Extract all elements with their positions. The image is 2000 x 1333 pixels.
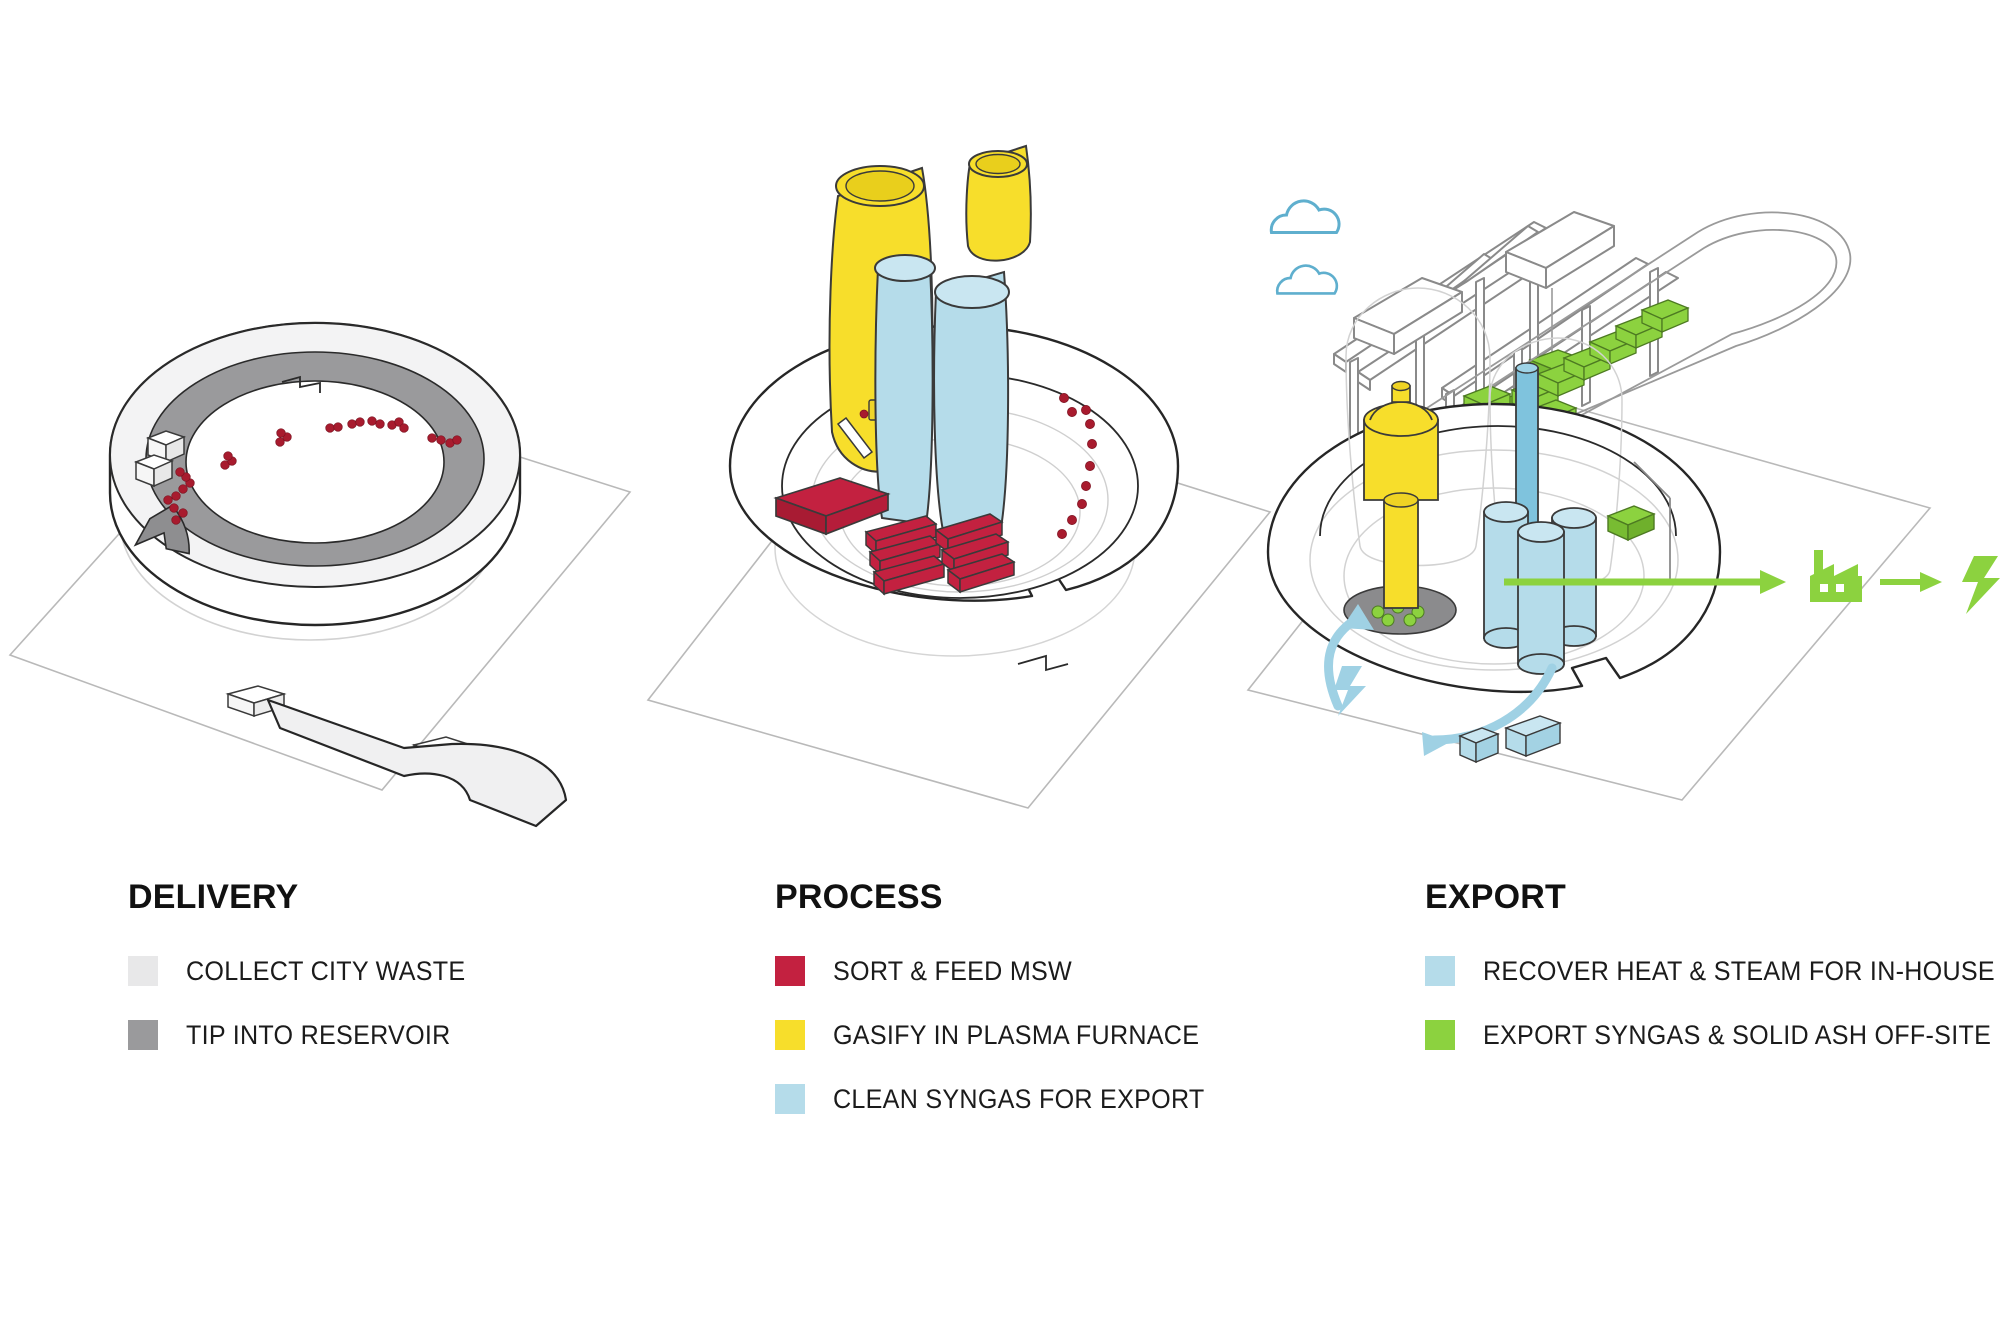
cloud-icon-upper	[1271, 201, 1339, 233]
swatch-sort-feed-msw	[775, 956, 805, 986]
legend-item: CLEAN SYNGAS FOR EXPORT	[775, 1084, 1335, 1114]
legend-label: TIP INTO RESERVOIR	[186, 1022, 451, 1049]
energy-recovery-units	[1460, 716, 1560, 762]
legend-export: EXPORT RECOVER HEAT & STEAM FOR IN-HOUSE…	[1425, 880, 2000, 1084]
legend-item: SORT & FEED MSW	[775, 956, 1335, 986]
panel-export	[1230, 0, 2000, 870]
swatch-tip-into-reservoir	[128, 1020, 158, 1050]
swatch-recover-heat-steam	[1425, 956, 1455, 986]
legend-item: RECOVER HEAT & STEAM FOR IN-HOUSE ENERGY	[1425, 956, 2000, 986]
plasma-furnace-small	[966, 146, 1030, 261]
hall-notch	[1018, 656, 1068, 670]
power-export-arrow	[1880, 572, 1942, 592]
legend-label: CLEAN SYNGAS FOR EXPORT	[833, 1086, 1205, 1113]
legend-label: GASIFY IN PLASMA FURNACE	[833, 1022, 1199, 1049]
legend-title-delivery: DELIVERY	[128, 880, 648, 914]
legend-item: TIP INTO RESERVOIR	[128, 1020, 648, 1050]
lightning-bolt-icon	[1962, 556, 2000, 614]
legend-title-process: PROCESS	[775, 880, 1335, 914]
factory-icon	[1810, 550, 1862, 602]
legend-item: GASIFY IN PLASMA FURNACE	[775, 1020, 1335, 1050]
panel-process	[620, 0, 1280, 870]
legend-process: PROCESS SORT & FEED MSW GASIFY IN PLASMA…	[775, 880, 1335, 1148]
legend-label: RECOVER HEAT & STEAM FOR IN-HOUSE ENERGY	[1483, 958, 2000, 985]
legend-item: COLLECT CITY WASTE	[128, 956, 648, 986]
legend-title-export: EXPORT	[1425, 880, 2000, 914]
legend-item: EXPORT SYNGAS & SOLID ASH OFF-SITE	[1425, 1020, 2000, 1050]
syngas-tank-right	[934, 272, 1009, 536]
syngas-tank-left	[875, 255, 935, 524]
legend-label: SORT & FEED MSW	[833, 958, 1072, 985]
swatch-collect-city-waste	[128, 956, 158, 986]
swatch-gasify-plasma-furnace	[775, 1020, 805, 1050]
panel-delivery	[0, 0, 640, 870]
legend-delivery: DELIVERY COLLECT CITY WASTE TIP INTO RES…	[128, 880, 648, 1084]
cloud-icon-lower	[1277, 266, 1337, 294]
diagram-canvas: DELIVERY COLLECT CITY WASTE TIP INTO RES…	[0, 0, 2000, 1333]
access-ramp	[268, 700, 566, 826]
legend-label: COLLECT CITY WASTE	[186, 958, 465, 985]
swatch-clean-syngas-export	[775, 1084, 805, 1114]
swatch-export-syngas-ash	[1425, 1020, 1455, 1050]
legend-label: EXPORT SYNGAS & SOLID ASH OFF-SITE	[1483, 1022, 1991, 1049]
